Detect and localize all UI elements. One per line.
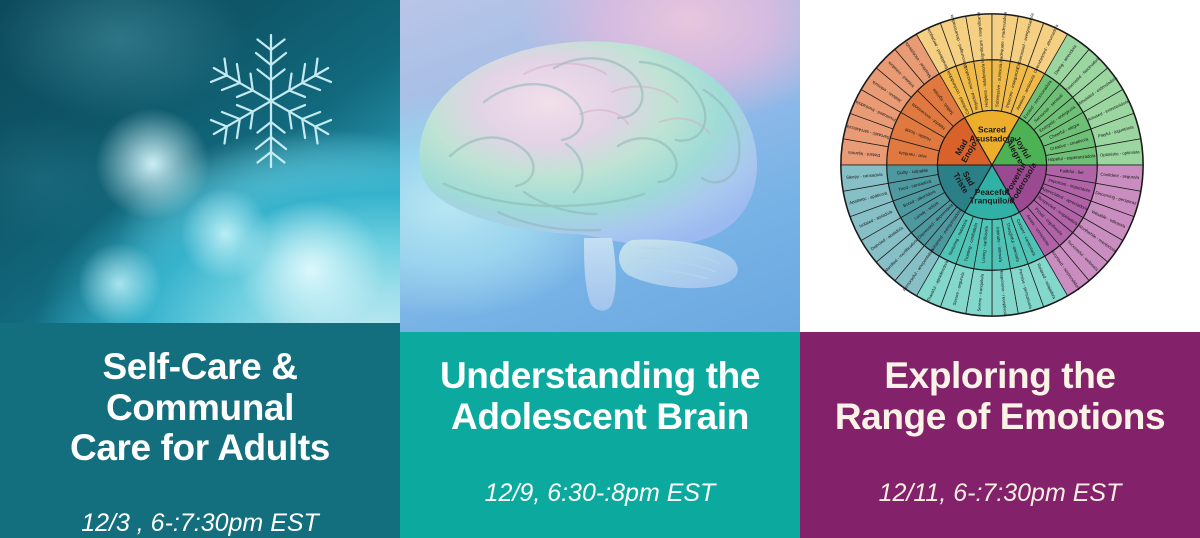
- snowflake-image: [0, 0, 400, 323]
- panel-self-care[interactable]: Self-Care & Communal Care for Adults 12/…: [0, 0, 400, 538]
- wheel-core-label: PeacefulTranquilo/a: [970, 187, 1015, 206]
- panel-title-adolescent-brain: Understanding the Adolescent Brain: [432, 356, 768, 437]
- caption-self-care: Self-Care & Communal Care for Adults 12/…: [0, 323, 400, 538]
- panel-title-range-of-emotions: Exploring the Range of Emotions: [827, 356, 1173, 437]
- brain-image: [400, 0, 800, 332]
- title-line-2: Adolescent Brain: [440, 397, 760, 438]
- caption-adolescent-brain: Understanding the Adolescent Brain 12/9,…: [400, 332, 800, 538]
- snowflake-icon: [196, 26, 346, 176]
- panel-datetime-self-care: 12/3 , 6-:7:30pm EST: [73, 509, 327, 538]
- title-line-1: Exploring the: [835, 356, 1165, 397]
- panel-title-self-care: Self-Care & Communal Care for Adults: [0, 347, 400, 469]
- emotion-wheel-diagram: MadEnojoHurt - herido/aHostile - hostilH…: [836, 6, 1148, 324]
- panel-range-of-emotions[interactable]: MadEnojoHurt - herido/aHostile - hostilH…: [800, 0, 1200, 538]
- panel-datetime-adolescent-brain: 12/9, 6:30-:8pm EST: [477, 479, 724, 508]
- panel-datetime-range-of-emotions: 12/11, 6-:7:30pm EST: [871, 479, 1130, 508]
- caption-range-of-emotions: Exploring the Range of Emotions 12/11, 6…: [800, 332, 1200, 538]
- workshop-series-banner: Self-Care & Communal Care for Adults 12/…: [0, 0, 1200, 538]
- title-line-2: Care for Adults: [8, 428, 392, 469]
- emotion-wheel-image: MadEnojoHurt - herido/aHostile - hostilH…: [800, 0, 1200, 332]
- brain-icon: [404, 16, 796, 316]
- panel-adolescent-brain[interactable]: Understanding the Adolescent Brain 12/9,…: [400, 0, 800, 538]
- title-line-2: Range of Emotions: [835, 397, 1165, 438]
- title-line-1: Understanding the: [440, 356, 760, 397]
- title-line-1: Self-Care & Communal: [8, 347, 392, 428]
